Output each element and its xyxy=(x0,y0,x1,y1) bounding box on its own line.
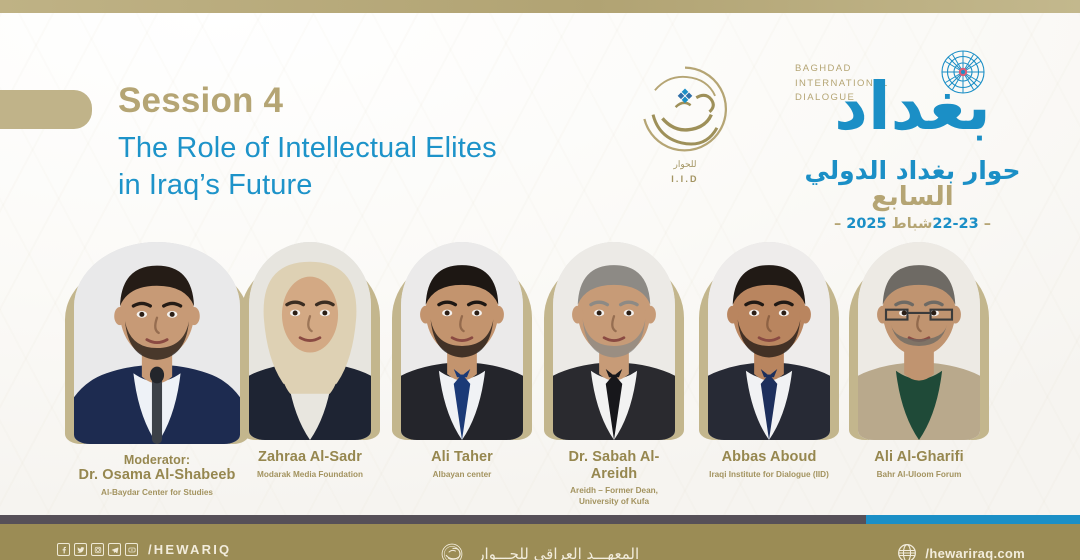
footer-strip-dark-segment xyxy=(0,515,866,524)
institute-seal-icon xyxy=(441,543,463,560)
iid-ring-icon xyxy=(638,62,732,156)
speaker-organization: Bahr Al-Uloom Forum xyxy=(858,470,980,481)
speaker-organization: Modarak Media Foundation xyxy=(249,470,371,481)
speaker-card: Abbas AboudIraqi Institute for Dialogue … xyxy=(708,242,830,480)
baghdad-international-dialogue-logo: BAGHDAD INTERNATIONAL DIALOGUE بغداد حوا… xyxy=(775,30,1050,226)
bid-arabic-subtitle: حوار بغداد الدولي xyxy=(775,156,1050,185)
speaker-organization: Al-Baydar Center for Studies xyxy=(74,488,240,499)
speaker-photo-wrap xyxy=(553,242,675,440)
iid-arabic-caption: للحوار xyxy=(630,159,740,170)
top-gold-bar xyxy=(0,0,1080,13)
footer-accent-strip xyxy=(0,515,1080,524)
session-title: The Role of Intellectual Elites in Iraq’… xyxy=(118,130,658,204)
bid-arabic-wordmark: بغداد xyxy=(775,74,1050,140)
session-title-line-1: The Role of Intellectual Elites xyxy=(118,132,497,164)
speaker-name: Ali Taher xyxy=(401,449,523,466)
speaker-organization: Iraqi Institute for Dialogue (IID) xyxy=(708,470,830,481)
speaker-name: Dr. Sabah Al-Areidh xyxy=(553,449,675,482)
speaker-portrait-photo xyxy=(553,242,675,440)
footer-bar: /HEWARIQ المعهـــد العراقي للحـــوار xyxy=(0,524,1080,560)
date-dash-right: – xyxy=(829,216,846,232)
speaker-card: Zahraa Al-SadrModarak Media Foundation xyxy=(249,242,371,480)
speaker-photo-wrap xyxy=(708,242,830,440)
speaker-name-text: Zahraa Al-Sadr xyxy=(258,449,362,465)
speaker-name: Zahraa Al-Sadr xyxy=(249,449,371,466)
slide-footer: /HEWARIQ المعهـــد العراقي للحـــوار xyxy=(0,515,1080,560)
date-dash-left: – xyxy=(979,216,996,232)
speaker-photo-wrap xyxy=(74,242,240,444)
speakers-row: Moderator:Dr. Osama Al-ShabeebAl-Baydar … xyxy=(0,242,1080,502)
iid-abbreviation: I.I.D xyxy=(630,174,740,184)
top-gold-bar-gradient xyxy=(0,0,1080,13)
speaker-name: Moderator:Dr. Osama Al-Shabeeb xyxy=(74,453,240,484)
footer-strip-blue-segment xyxy=(866,515,1080,524)
website-url: /hewariraq.com xyxy=(925,546,1025,560)
event-date: –22-23شباط 2025– xyxy=(775,216,1050,232)
footer-website-link[interactable]: /hewariraq.com xyxy=(897,543,1025,560)
session-title-line-2: in Iraq’s Future xyxy=(118,167,658,204)
speaker-portrait-photo xyxy=(858,242,980,440)
footer-arabic-name: المعهـــد العراقي للحـــوار xyxy=(477,545,639,560)
speaker-portrait-photo xyxy=(401,242,523,440)
speaker-portrait-photo xyxy=(249,242,371,440)
speaker-organization: Albayan center xyxy=(401,470,523,481)
bid-arabic-ordinal: السابع xyxy=(775,182,1050,212)
speaker-photo-wrap xyxy=(249,242,371,440)
speaker-name-text: Ali Taher xyxy=(431,449,493,465)
event-date-year: 2025 xyxy=(846,216,886,232)
speaker-photo-wrap xyxy=(858,242,980,440)
presentation-slide: Session 4 The Role of Intellectual Elite… xyxy=(0,0,1080,560)
speaker-name: Abbas Aboud xyxy=(708,449,830,466)
iraqi-institute-for-dialogue-logo: للحوار I.I.D xyxy=(630,58,740,188)
event-date-month: شباط xyxy=(892,216,933,232)
event-date-days: 22-23 xyxy=(932,216,978,232)
speaker-name-text: Ali Al-Gharifi xyxy=(874,449,963,465)
globe-icon xyxy=(897,543,917,560)
speaker-name: Ali Al-Gharifi xyxy=(858,449,980,466)
speaker-portrait-photo xyxy=(708,242,830,440)
speaker-name-text: Dr. Sabah Al-Areidh xyxy=(568,449,659,482)
speaker-name-text: Abbas Aboud xyxy=(722,449,817,465)
speaker-card: Moderator:Dr. Osama Al-ShabeebAl-Baydar … xyxy=(74,242,240,499)
speaker-organization: Areidh – Former Dean, University of Kufa xyxy=(553,486,675,507)
session-heading-block: Session 4 The Role of Intellectual Elite… xyxy=(118,82,658,204)
speaker-portrait-photo xyxy=(74,242,240,444)
session-number-label: Session 4 xyxy=(118,82,658,121)
speaker-card: Ali Al-GharifiBahr Al-Uloom Forum xyxy=(858,242,980,480)
speaker-card: Dr. Sabah Al-AreidhAreidh – Former Dean,… xyxy=(553,242,675,508)
speaker-photo-wrap xyxy=(401,242,523,440)
speaker-name-text: Dr. Osama Al-Shabeeb xyxy=(79,467,236,483)
speaker-card: Ali TaherAlbayan center xyxy=(401,242,523,480)
left-gold-tab-decoration xyxy=(0,90,92,129)
speaker-role-prefix: Moderator: xyxy=(74,453,240,467)
